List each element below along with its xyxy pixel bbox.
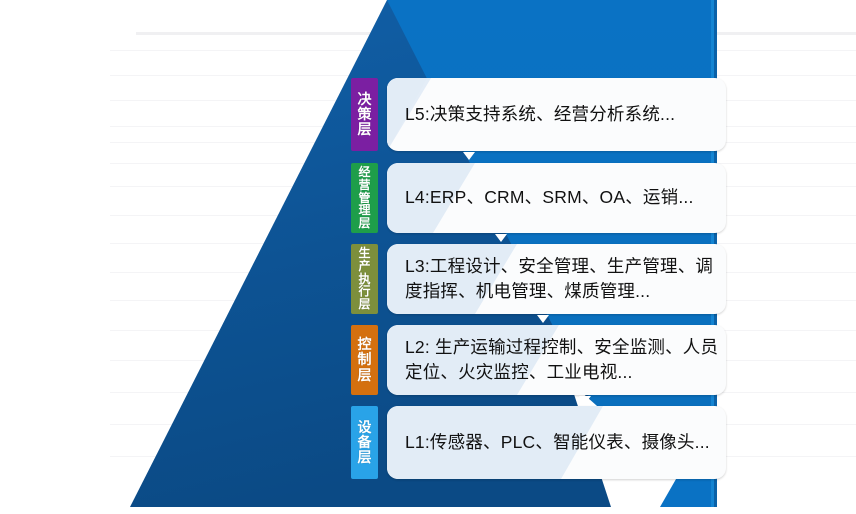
level-tab-label-l4-c1: 经 (358, 166, 370, 179)
level-tab-label-l5-c2: 策 (358, 107, 372, 122)
level-card-l4[interactable]: L4:ERP、CRM、SRM、OA、运销... (387, 163, 726, 233)
diagram-canvas: 决 策 层 L5:决策支持系统、经营分析系统... 经 营 管 理 层 (0, 0, 856, 514)
level-card-l3[interactable]: L3:工程设计、安全管理、生产管理、调度指挥、机电管理、煤质管理... (387, 244, 726, 314)
level-text-l1: L1:传感器、PLC、智能仪表、摄像头... (405, 430, 710, 455)
level-text-l3: L3:工程设计、安全管理、生产管理、调度指挥、机电管理、煤质管理... (405, 254, 726, 305)
level-tab-label-l3-c2: 产 (358, 260, 370, 273)
level-row-l4[interactable]: 经 营 管 理 层 L4:ERP、CRM、SRM、OA、运销... (351, 163, 726, 233)
pyramid-levels: 决 策 层 L5:决策支持系统、经营分析系统... 经 营 管 理 层 (0, 0, 856, 514)
level-row-l5[interactable]: 决 策 层 L5:决策支持系统、经营分析系统... (351, 78, 726, 151)
level-tab-label-l4-c5: 层 (358, 217, 370, 230)
level-tab-label-l4-c2: 营 (358, 179, 370, 192)
level-tab-label-l2-c2: 制 (358, 352, 372, 367)
level-row-l1[interactable]: 设 备 层 L1:传感器、PLC、智能仪表、摄像头... (351, 406, 726, 479)
level-tab-label-l1-c1: 设 (358, 420, 372, 435)
level-tab-l2[interactable]: 控 制 层 (351, 325, 378, 395)
level-tab-label-l2-c3: 层 (358, 368, 372, 383)
flow-chevron-2 (495, 234, 507, 242)
level-tab-l5[interactable]: 决 策 层 (351, 78, 378, 151)
level-tab-l3[interactable]: 生 产 执 行 层 (351, 244, 378, 314)
level-text-l4: L4:ERP、CRM、SRM、OA、运销... (405, 185, 694, 210)
level-tab-label-l5-c3: 层 (358, 122, 372, 137)
level-tab-l4[interactable]: 经 营 管 理 层 (351, 163, 378, 233)
level-text-l2: L2: 生产运输过程控制、安全监测、人员定位、火灾监控、工业电视... (405, 335, 726, 386)
level-card-l2[interactable]: L2: 生产运输过程控制、安全监测、人员定位、火灾监控、工业电视... (387, 325, 726, 395)
level-card-l1[interactable]: L1:传感器、PLC、智能仪表、摄像头... (387, 406, 726, 479)
flow-chevron-4 (579, 396, 591, 404)
level-tab-l1[interactable]: 设 备 层 (351, 406, 378, 479)
level-card-l5[interactable]: L5:决策支持系统、经营分析系统... (387, 78, 726, 151)
level-row-l3[interactable]: 生 产 执 行 层 L3:工程设计、安全管理、生产管理、调度指挥、机电管理、煤质… (351, 244, 726, 314)
flow-chevron-3 (537, 315, 549, 323)
level-row-l2[interactable]: 控 制 层 L2: 生产运输过程控制、安全监测、人员定位、火灾监控、工业电视..… (351, 325, 726, 395)
flow-chevron-1 (463, 152, 475, 160)
level-tab-label-l1-c3: 层 (358, 450, 372, 465)
level-tab-label-l5-c1: 决 (358, 92, 372, 107)
level-text-l5: L5:决策支持系统、经营分析系统... (405, 102, 675, 127)
level-tab-label-l1-c2: 备 (358, 435, 372, 450)
level-tab-label-l3-c5: 层 (358, 298, 370, 311)
level-tab-label-l3-c1: 生 (358, 247, 370, 260)
